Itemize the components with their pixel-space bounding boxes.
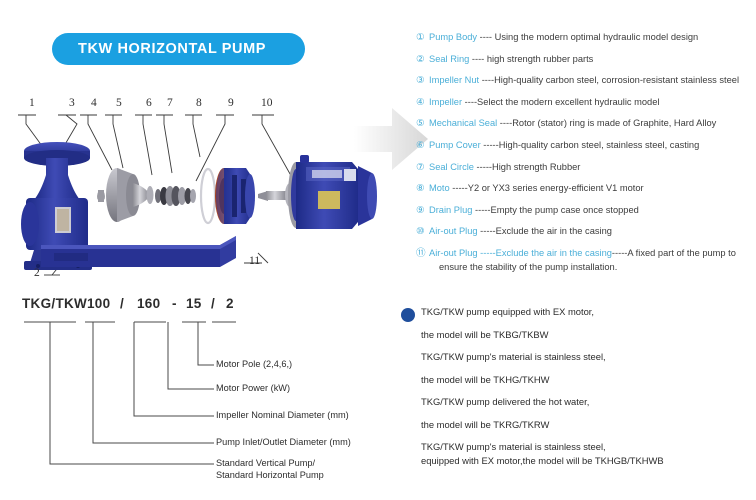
page-title-banner: TKW HORIZONTAL PUMP: [52, 33, 305, 65]
part-desc: Exclude the air in the casing: [496, 226, 612, 236]
callout-9: 9: [228, 97, 234, 109]
part-desc: Select the modern excellent hydraulic mo…: [477, 97, 659, 107]
nomenclature-leader-lines: [0, 290, 400, 500]
parts-description-list: ① Pump Body ---- Using the modern optima…: [416, 32, 752, 273]
callout-3: 3: [69, 97, 75, 109]
model-variant-notes: TKG/TKW pump equipped with EX motor, the…: [421, 306, 756, 478]
part-row: ⑩ Air-out Plug -----Exclude the air in t…: [416, 226, 752, 237]
part-row: ⑧ Moto -----Y2 or YX3 series energy-effi…: [416, 183, 752, 194]
part-desc: High-quality carbon steel, corrosion-res…: [494, 75, 739, 85]
part-number: ①: [416, 32, 429, 43]
nomenclature-label-inlet-dia: Pump Inlet/Outlet Diameter (mm): [216, 437, 351, 449]
part-desc-line2: ensure the stability of the pump install…: [429, 262, 752, 273]
part-number: ⑥: [416, 140, 429, 151]
part-number: ⑧: [416, 183, 429, 194]
part-row: ③ Impeller Nut ----High-quality carbon s…: [416, 75, 752, 86]
part-row: ⑪ Air-out Plug -----Exclude the air in t…: [416, 248, 752, 273]
part-row: ④ Impeller ----Select the modern excelle…: [416, 97, 752, 108]
impeller-nut-part: [97, 190, 105, 202]
part-name: Air-out Plug -----Exclude the air in the…: [429, 248, 612, 258]
note-line: TKG/TKW pump's material is stainless ste…: [421, 441, 756, 452]
pump-datasheet-page: TKW HORIZONTAL PUMP: [0, 0, 756, 500]
callout-10: 10: [261, 97, 273, 109]
part-number: ②: [416, 54, 429, 65]
part-number: ③: [416, 75, 429, 86]
page-title: TKW HORIZONTAL PUMP: [52, 41, 266, 57]
part-dash: ----: [497, 118, 512, 128]
callout-11: 11: [249, 255, 260, 267]
part-desc: Rotor (stator) ring is made of Graphite,…: [512, 118, 716, 128]
part-number: ⑪: [416, 248, 429, 259]
part-dash: -----: [450, 183, 468, 193]
part-number: ⑦: [416, 162, 429, 173]
callout-8: 8: [196, 97, 202, 109]
part-name: Seal Circle: [429, 162, 474, 172]
part-row: ⑥ Pump Cover -----High-quality carbon st…: [416, 140, 752, 151]
part-name: Mechanical Seal: [429, 118, 497, 128]
callout-7: 7: [167, 97, 173, 109]
part-row: ⑦ Seal Circle -----High strength Rubber: [416, 162, 752, 173]
part-name: Impeller: [429, 97, 462, 107]
note-line: the model will be TKBG/TKBW: [421, 329, 756, 340]
part-name: Pump Body: [429, 32, 477, 42]
note-line: TKG/TKW pump's material is stainless ste…: [421, 351, 756, 362]
part-desc: Empty the pump case once stopped: [491, 205, 639, 215]
part-name: Drain Plug: [429, 205, 472, 215]
part-name: Impeller Nut: [429, 75, 479, 85]
note-line: equipped with EX motor,the model will be…: [421, 455, 756, 466]
note-line: TKG/TKW pump delivered the hot water,: [421, 396, 756, 407]
part-desc: high strength rubber parts: [487, 54, 593, 64]
part-number: ④: [416, 97, 429, 108]
mechanical-seal-part: [155, 186, 196, 206]
pump-cover-part: [215, 168, 255, 224]
nomenclature-label-pump-type-1: Standard Vertical Pump/: [216, 458, 315, 470]
part-desc: Y2 or YX3 series energy-efficient V1 mot…: [468, 183, 644, 193]
nomenclature-label-motor-power: Motor Power (kW): [216, 383, 290, 395]
exploded-view-diagram: 1 3 4 5 6 7 8 9 10 2 11: [0, 95, 400, 295]
part-number: ⑨: [416, 205, 429, 216]
part-row: ⑨ Drain Plug -----Empty the pump case on…: [416, 205, 752, 216]
part-dash: -----: [612, 248, 627, 258]
bullet-dot-icon: [401, 308, 415, 322]
callout-2: 2: [34, 267, 40, 279]
part-desc: Using the modern optimal hydraulic model…: [495, 32, 699, 42]
part-name: Air-out Plug: [429, 226, 478, 236]
part-row: ① Pump Body ---- Using the modern optima…: [416, 32, 752, 43]
part-name: Pump Cover: [429, 140, 481, 150]
part-dash: -----: [474, 162, 492, 172]
callout-5: 5: [116, 97, 122, 109]
seal-circle-part: [201, 169, 215, 223]
note-line: TKG/TKW pump equipped with EX motor,: [421, 306, 756, 317]
nomenclature-label-pump-type-2: Standard Horizontal Pump: [216, 470, 324, 482]
part-dash: -----: [478, 226, 496, 236]
part-number: ⑩: [416, 226, 429, 237]
note-line: the model will be TKRG/TKRW: [421, 419, 756, 430]
callout-4: 4: [91, 97, 97, 109]
part-name: Moto: [429, 183, 450, 193]
part-desc: High-quality carbon steel, stainless ste…: [499, 140, 700, 150]
part-dash: -----: [472, 205, 490, 215]
callout-1: 1: [29, 97, 35, 109]
part-row: ⑤ Mechanical Seal ----Rotor (stator) rin…: [416, 118, 752, 129]
note-line: the model will be TKHG/TKHW: [421, 374, 756, 385]
part-desc: A fixed part of the pump to: [627, 248, 736, 258]
nomenclature-label-impeller-dia: Impeller Nominal Diameter (mm): [216, 410, 349, 422]
part-dash: -----: [481, 140, 499, 150]
part-row: ② Seal Ring ---- high strength rubber pa…: [416, 54, 752, 65]
part-dash: ----: [462, 97, 477, 107]
part-dash: ----: [477, 32, 495, 42]
part-dash: ----: [479, 75, 494, 85]
callout-6: 6: [146, 97, 152, 109]
part-desc: High strength Rubber: [492, 162, 580, 172]
impeller-part: [106, 168, 154, 222]
model-nomenclature-diagram: TKG/TKW 100 / 160 - 15 / 2 Motor: [0, 290, 400, 500]
part-name: Seal Ring: [429, 54, 469, 64]
part-number: ⑤: [416, 118, 429, 129]
part-dash: ----: [469, 54, 487, 64]
nomenclature-label-motor-pole: Motor Pole (2,4,6,): [216, 359, 292, 371]
